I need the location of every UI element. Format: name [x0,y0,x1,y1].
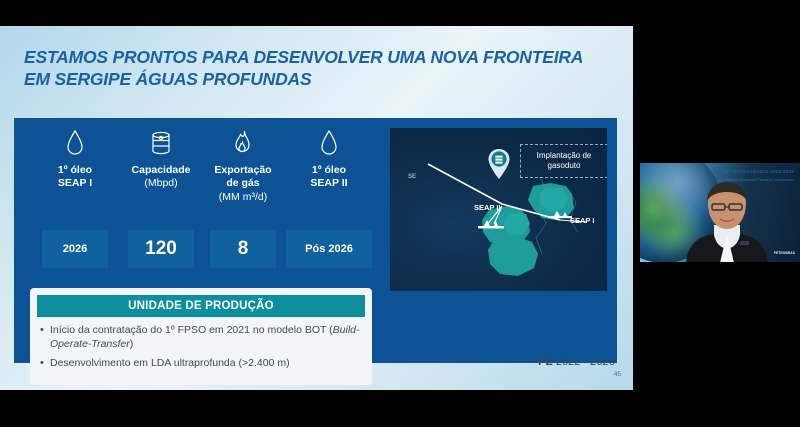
production-unit-header: UNIDADE DE PRODUÇÃO [37,295,365,317]
kpi-first-oil-seap-2: 1º óleo SEAP II [286,126,372,191]
footer-pe-bold: PE [539,356,554,368]
speaker-video-panel[interactable]: PLANO ESTRATÉGICO 2022-2026 Apresentação… [640,163,800,262]
oil-drop-icon [286,126,372,160]
gasoduto-callout: Implantação de gasoduto [520,144,607,178]
bullet-text-2-before: Desenvolvimento em LDA ultraprofunda (>2… [50,357,290,369]
kpi-label-second-3: de gás [226,177,259,189]
slide-page-number: 45 [614,371,621,378]
kpi-value-box-4: Pós 2026 [286,230,372,268]
sergipe-map: SE Implantação de gasoduto SEAP II SEA [390,128,607,291]
kpi-label-2: Capacidade (Mbpd) [118,164,204,191]
kpi-value-4: Pós 2026 [305,243,353,255]
map-state-label-se: SE [408,174,416,180]
slide-title: ESTAMOS PRONTOS PARA DESENVOLVER UMA NOV… [24,46,604,91]
presentation-slide: ESTAMOS PRONTOS PARA DESENVOLVER UMA NOV… [0,26,633,390]
list-item: Início da contratação do 1º FPSO em 2021… [39,324,363,352]
kpi-first-oil-seap-1: 1º óleo SEAP I [32,126,118,191]
gas-plant-pin-icon [487,148,511,180]
oil-drop-icon [32,126,118,160]
kpi-gas-export: Exportação de gás (MM m³/d) [200,126,286,204]
kpi-label-4: 1º óleo SEAP II [286,164,372,191]
kpi-label-3: Exportação de gás (MM m³/d) [200,164,286,204]
kpi-value-1: 2026 [63,243,87,255]
concession-blocks [482,183,574,276]
kpi-value-3: 8 [238,238,249,260]
footer-pe-range: 2022 - 2026 [553,356,615,368]
kpi-label-main-3: Exportação [214,164,271,176]
kpi-value-2: 120 [145,238,177,260]
video-brand-title: PLANO ESTRATÉGICO 2022-2026 [715,169,794,174]
production-unit-bullet-list: Início da contratação do 1º FPSO em 2021… [37,317,365,371]
kpi-label-main-4: 1º óleo [312,164,346,176]
screen-root: ESTAMOS PRONTOS PARA DESENVOLVER UMA NOV… [0,0,800,427]
kpi-value-box-3: 8 [210,230,276,268]
kpi-label-second-1: SEAP I [58,177,92,189]
map-label-seap-1: SEAP I [570,216,594,225]
kpi-value-box-1: 2026 [42,230,108,268]
gasoduto-label-line-1: Implantação de [537,151,592,160]
oil-barrel-icon [118,126,204,160]
slide-title-line-2: EM SERGIPE ÁGUAS PROFUNDAS [24,68,604,90]
production-unit-card: UNIDADE DE PRODUÇÃO Início da contrataçã… [30,288,372,385]
speaker-avatar [684,179,770,262]
gasoduto-label-line-2: gasoduto [548,161,581,170]
gas-flame-icon [200,126,286,160]
kpi-label-second-4: SEAP II [310,177,347,189]
kpi-label-1: 1º óleo SEAP I [32,164,118,191]
kpi-label-main-1: 1º óleo [58,164,92,176]
kpi-label-main-2: Capacidade [132,164,191,176]
list-item: Desenvolvimento em LDA ultraprofunda (>2… [39,357,363,371]
kpi-label-unit-2: (Mbpd) [118,177,204,190]
kpi-label-unit-3: (MM m³/d) [200,191,286,204]
slide-title-line-1: ESTAMOS PRONTOS PARA DESENVOLVER UMA NOV… [24,46,604,68]
bullet-text-1-after: ) [130,338,134,350]
kpi-group: 1º óleo SEAP I 2026 [14,118,384,278]
bullet-text-1-before: Início da contratação do 1º FPSO em 2021… [50,324,333,336]
video-caption: PETROBRAS [774,251,795,255]
slide-footer-plan-label: PE 2022 - 2026 [539,356,615,368]
content-panel: 1º óleo SEAP I 2026 [14,118,617,363]
kpi-value-box-2: 120 [128,230,194,268]
kpi-capacity: Capacidade (Mbpd) [118,126,204,191]
map-label-seap-2: SEAP II [474,203,501,212]
